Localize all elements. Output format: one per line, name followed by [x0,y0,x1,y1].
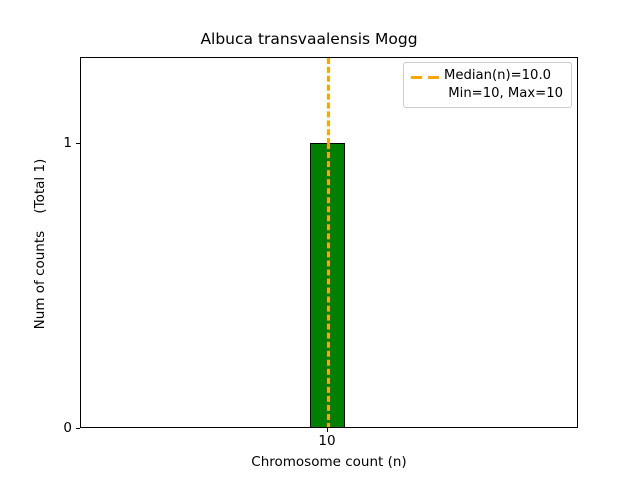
x-tick-label-10: 10 [297,433,357,449]
plot-area [80,57,578,428]
chart-title-text: Albuca transvaalensis Mogg [200,30,417,48]
legend-label-minmax: Min=10, Max=10 [444,85,563,103]
legend-label-median: Median(n)=10.0 [444,67,563,85]
y-axis-label: Num of counts (Total 1) [32,24,48,464]
chart-title: Albuca transvaalensis Mogg [0,30,640,48]
legend: Median(n)=10.0 Min=10, Max=10 [403,62,572,108]
median-line-over-bar [327,143,330,428]
x-axis-label: Chromosome count (n) [80,454,578,470]
x-tick-mark-10 [327,428,328,432]
y-axis-label-wrapper: Num of counts (Total 1) [0,0,80,480]
legend-dashed-line-icon [410,69,444,86]
figure-canvas: Albuca transvaalensis Mogg 1 0 10 Median… [0,0,640,480]
